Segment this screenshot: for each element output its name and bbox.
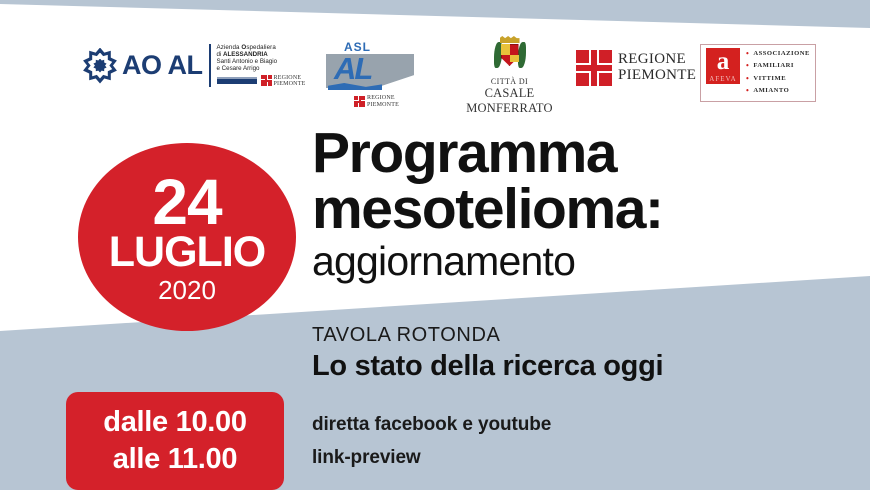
asl-regione-piemonte-text: REGIONE PIEMONTE [367,95,399,108]
title-line-3: aggiornamento [312,240,852,283]
asl-al-mark: AL REGIONE PIEMONTE [322,54,418,94]
title-line-2: mesotelioma: [312,182,852,238]
logo-afeva: a AFEVA ASSOCIAZIONE FAMILIARI VITTIME A… [700,44,816,102]
afeva-line-3: AMIANTO [746,85,810,97]
rp-line2: PIEMONTE [367,102,399,108]
logo-regione-piemonte: REGIONE PIEMONTE [576,50,696,86]
logo-citta-di-casale-monferrato: CITTÀ DI CASALE MONFERRATO [452,36,567,116]
logo-ao-al-wordmark: AO AL [122,52,203,79]
rp-line2: PIEMONTE [274,81,306,87]
top-diagonal-band [0,0,870,40]
streaming-info: diretta facebook e youtube link-preview [312,408,852,475]
event-month: LUGLIO [109,231,265,274]
rp-line1: REGIONE [367,95,399,101]
regione-line1: REGIONE [618,52,696,68]
round-table-kicker: TAVOLA ROTONDA [312,323,852,347]
event-time-badge: dalle 10.00 alle 11.00 [66,392,284,490]
afeva-line-2: VITTIME [746,73,810,85]
event-day: 24 [152,174,221,230]
regione-line2: PIEMONTE [618,68,696,84]
piedmont-cross-icon [576,50,612,86]
casale-line1: CITTÀ DI [452,77,567,86]
piedmont-cross-icon [261,75,272,86]
afeva-line-1: FAMILIARI [746,60,810,72]
piedmont-cross-icon [354,96,365,107]
rp-line1: REGIONE [274,75,306,81]
event-date-badge: 24 LUGLIO 2020 [78,143,296,331]
coat-of-arms-icon [493,36,527,76]
logo-ao-al-description: Azienda Ospedaliera di ALESSANDRIA Santi… [209,44,306,87]
event-year: 2020 [158,276,216,305]
asl-al-regione-piemonte-logo: REGIONE PIEMONTE [350,95,399,108]
eight-point-star-icon [82,48,118,84]
afeva-description: ASSOCIAZIONE FAMILIARI VITTIME AMIANTO [746,48,810,98]
afeva-mark-icon: a AFEVA [706,48,740,84]
afeva-acronym: AFEVA [706,75,740,83]
ao-al-line1a: Azienda [217,44,242,51]
casale-line2: CASALE MONFERRATO [452,86,567,116]
logo-ao-al: AO AL Azienda Ospedaliera di ALESSANDRIA… [82,44,305,87]
logo-asl-al: ASL AL REGIONE PIEMONTE [322,40,418,94]
ao-al-regione-piemonte-logo: REGIONE PIEMONTE [217,75,306,88]
round-table-section: TAVOLA ROTONDA Lo stato della ricerca og… [312,323,852,384]
ao-al-line1c: spedaliera [246,44,276,51]
event-time-start: dalle 10.00 [103,404,246,441]
streaming-channels: diretta facebook e youtube [312,408,852,441]
asl-al-mark-text: AL [334,51,371,87]
ao-al-line2b: ALESSANDRIA [223,51,268,58]
sponsor-logo-row: AO AL Azienda Ospedaliera di ALESSANDRIA… [0,36,870,108]
streaming-link-preview: link-preview [312,441,852,474]
afeva-letter: a [706,49,740,74]
ao-al-line3: Santi Antonio e Biagio [217,58,306,65]
afeva-line-0: ASSOCIAZIONE [746,48,810,60]
event-time-end: alle 11.00 [113,441,237,478]
round-table-title: Lo stato della ricerca oggi [312,349,852,384]
ao-al-line4: e Cesare Arrigo [217,65,306,72]
navy-bar-icon [217,77,257,84]
page-title: Programma mesotelioma: aggiornamento [312,126,852,283]
event-poster: AO AL Azienda Ospedaliera di ALESSANDRIA… [0,0,870,490]
ao-al-regione-piemonte-text: REGIONE PIEMONTE [274,75,306,88]
regione-piemonte-text: REGIONE PIEMONTE [618,52,696,84]
title-line-1: Programma [312,126,852,182]
